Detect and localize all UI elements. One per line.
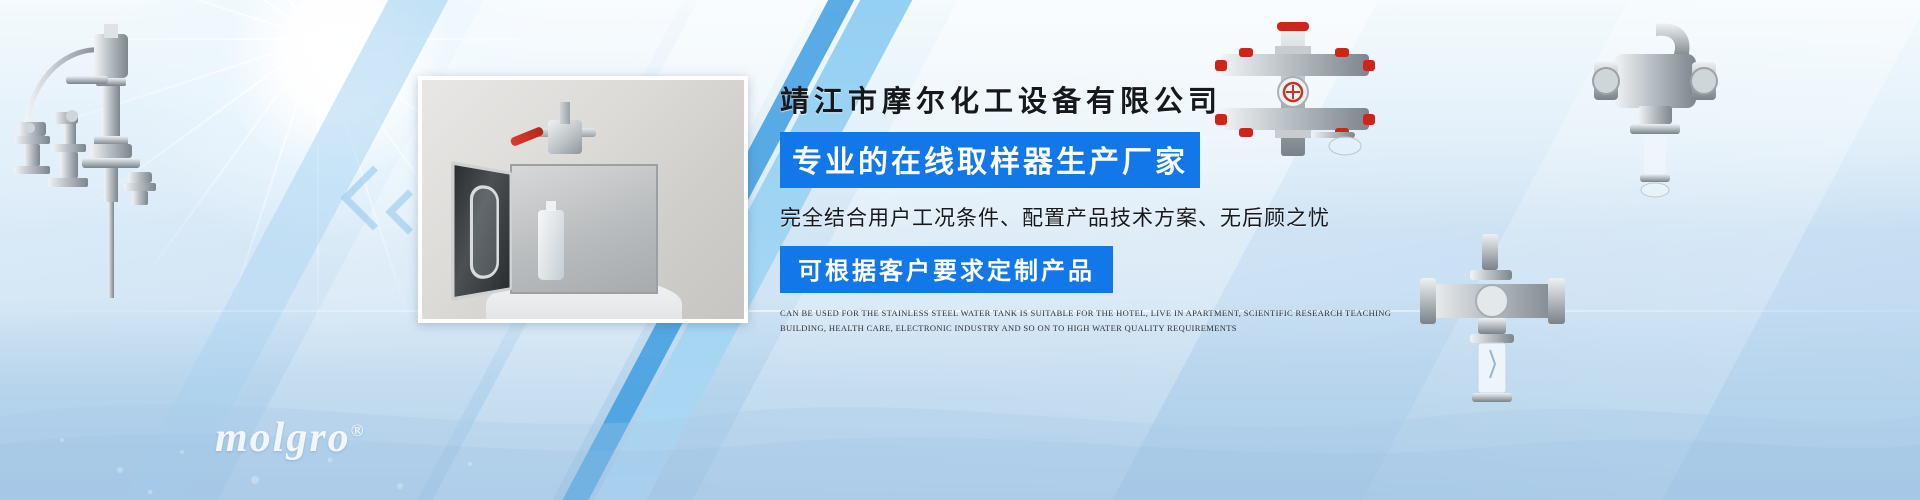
photo-valve-head	[534, 102, 596, 168]
product-photo	[418, 76, 748, 323]
photo-cabinet-door	[451, 161, 512, 301]
right-mid-equipment-illustration	[1590, 14, 1720, 214]
photo-sampler-cabinet	[510, 164, 658, 294]
english-description: CAN BE USED FOR THE STAINLESS STEEL WATE…	[780, 306, 1392, 337]
registered-mark-icon: ®	[351, 421, 366, 440]
water-wave-decoration	[0, 320, 1920, 500]
banner-text-block: 靖江市摩尔化工设备有限公司 专业的在线取样器生产厂家 完全结合用户工况条件、配置…	[780, 78, 1420, 337]
promo-banner: 靖江市摩尔化工设备有限公司 专业的在线取样器生产厂家 完全结合用户工况条件、配置…	[0, 0, 1920, 500]
watermark-text: molgro	[215, 415, 351, 461]
photo-door-window	[470, 184, 499, 281]
left-equipment-illustration	[8, 16, 168, 306]
watermark-logo: molgro®	[215, 414, 365, 462]
headline-highlight: 专业的在线取样器生产厂家	[780, 132, 1200, 188]
cta-highlight: 可根据客户要求定制产品	[780, 246, 1113, 293]
photo-sample-bottle	[538, 210, 564, 280]
company-name: 靖江市摩尔化工设备有限公司	[780, 78, 1420, 120]
subline-text: 完全结合用户工况条件、配置产品技术方案、无后顾之忧	[780, 202, 1420, 232]
right-bottom-equipment-illustration	[1420, 232, 1565, 417]
